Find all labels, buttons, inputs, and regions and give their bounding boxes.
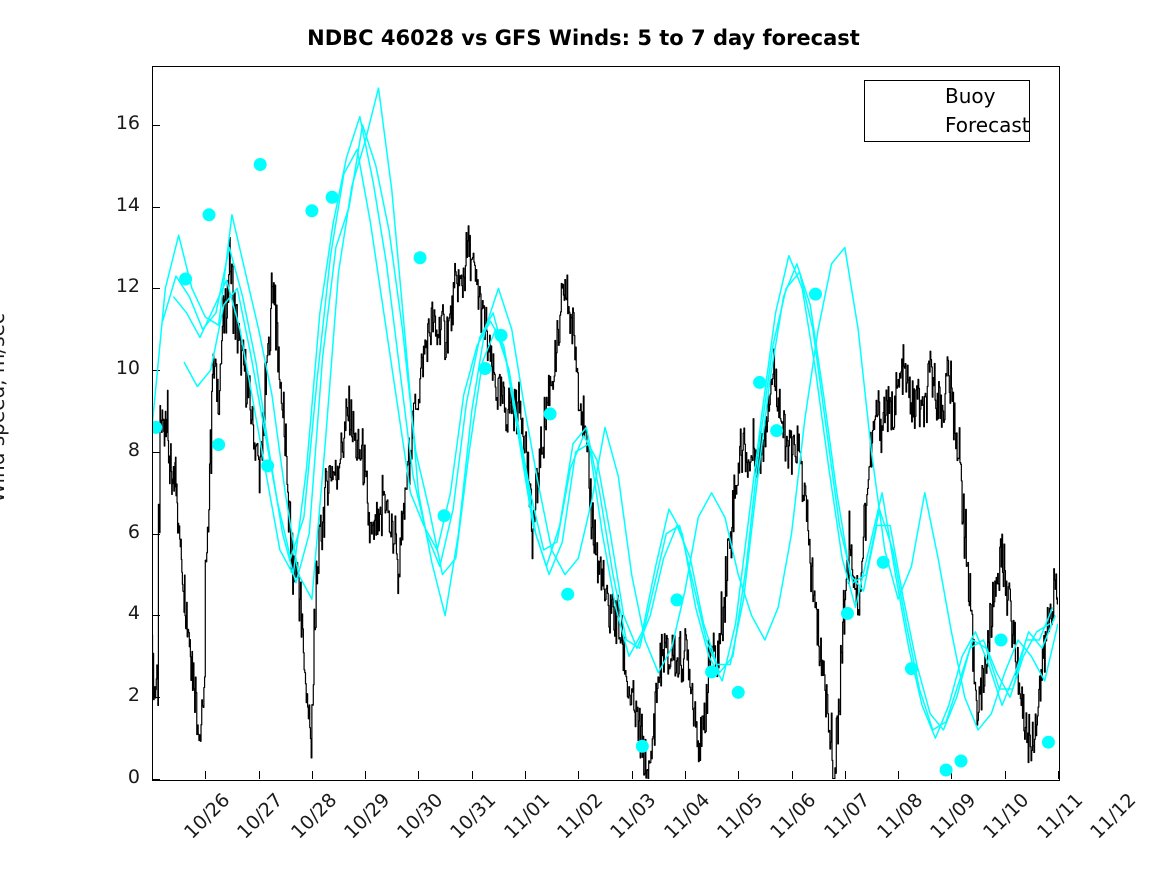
legend: Buoy Forecast: [864, 80, 1030, 142]
y-tick-label: 6: [80, 521, 140, 543]
x-tick-label: 10/29: [340, 789, 394, 843]
x-tick-label: 11/10: [979, 789, 1033, 843]
x-tick-label: 11/09: [926, 789, 980, 843]
y-tick-label: 12: [80, 275, 140, 297]
x-tick-label: 11/12: [1086, 789, 1140, 843]
y-tick-label: 16: [80, 112, 140, 134]
page-title: NDBC 46028 vs GFS Winds: 5 to 7 day fore…: [0, 26, 1167, 50]
x-tick-label: 11/08: [873, 789, 927, 843]
x-tick-label: 11/01: [500, 789, 554, 843]
x-tick-label: 11/07: [820, 789, 874, 843]
x-tick-label: 11/02: [553, 789, 607, 843]
y-tick-label: 4: [80, 602, 140, 624]
y-axis-label: Wind speed, m/sec: [0, 43, 15, 773]
y-tick-label: 10: [80, 357, 140, 379]
legend-label-buoy: Buoy: [945, 84, 995, 108]
x-tick-label: 10/27: [233, 789, 287, 843]
y-tick-label: 8: [80, 439, 140, 461]
y-tick-label: 14: [80, 194, 140, 216]
legend-entry-buoy: Buoy: [865, 81, 1031, 112]
x-tick-label: 11/05: [713, 789, 767, 843]
y-tick-label: 0: [80, 766, 140, 788]
x-tick-label: 11/04: [660, 789, 714, 843]
y-tick-label: 2: [80, 684, 140, 706]
x-tick-label: 11/03: [606, 789, 660, 843]
legend-label-forecast: Forecast: [945, 113, 1030, 137]
x-tick-label: 11/06: [766, 789, 820, 843]
x-tick-label: 10/30: [393, 789, 447, 843]
legend-entry-forecast: Forecast: [865, 110, 1031, 141]
x-tick-label: 10/28: [287, 789, 341, 843]
plot-frame: [152, 66, 1060, 781]
x-tick-label: 10/26: [180, 789, 234, 843]
x-tick-label: 10/31: [447, 789, 501, 843]
x-tick-label: 11/11: [1033, 789, 1087, 843]
chart-figure: NDBC 46028 vs GFS Winds: 5 to 7 day fore…: [0, 0, 1167, 875]
